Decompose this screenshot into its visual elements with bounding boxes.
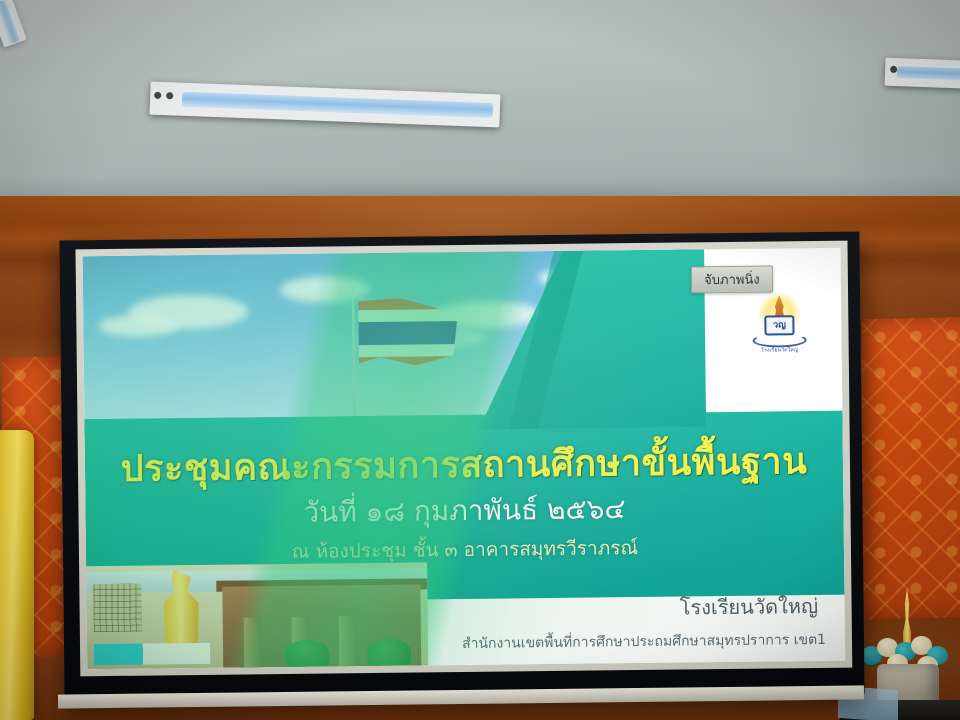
wallpaper-panel-right bbox=[862, 317, 960, 620]
meeting-room-photo: วญ โรงเรียนวัดใหญ่ bbox=[0, 0, 960, 720]
slide-date-line: วันที่ ๑๘ กุมภาพันธ์ ๒๕๖๔ bbox=[85, 485, 843, 538]
yellow-curtain bbox=[0, 430, 34, 720]
capture-still-badge[interactable]: จับภาพนิ่ง bbox=[691, 265, 773, 293]
slide-office-name: สำนักงานเขตพื้นที่การศึกษาประถมศึกษาสมุท… bbox=[462, 629, 826, 655]
slide-text-layer: ประชุมคณะกรรมการสถานศึกษาขั้นพื้นฐาน วัน… bbox=[83, 248, 846, 670]
fluorescent-light-icon bbox=[885, 58, 960, 91]
presentation-slide: วญ โรงเรียนวัดใหญ่ bbox=[83, 248, 846, 670]
slide-school-name: โรงเรียนวัดใหญ่ bbox=[679, 590, 818, 624]
projection-screen: วญ โรงเรียนวัดใหญ่ bbox=[59, 231, 864, 702]
screen-border: วญ โรงเรียนวัดใหญ่ bbox=[76, 241, 853, 677]
